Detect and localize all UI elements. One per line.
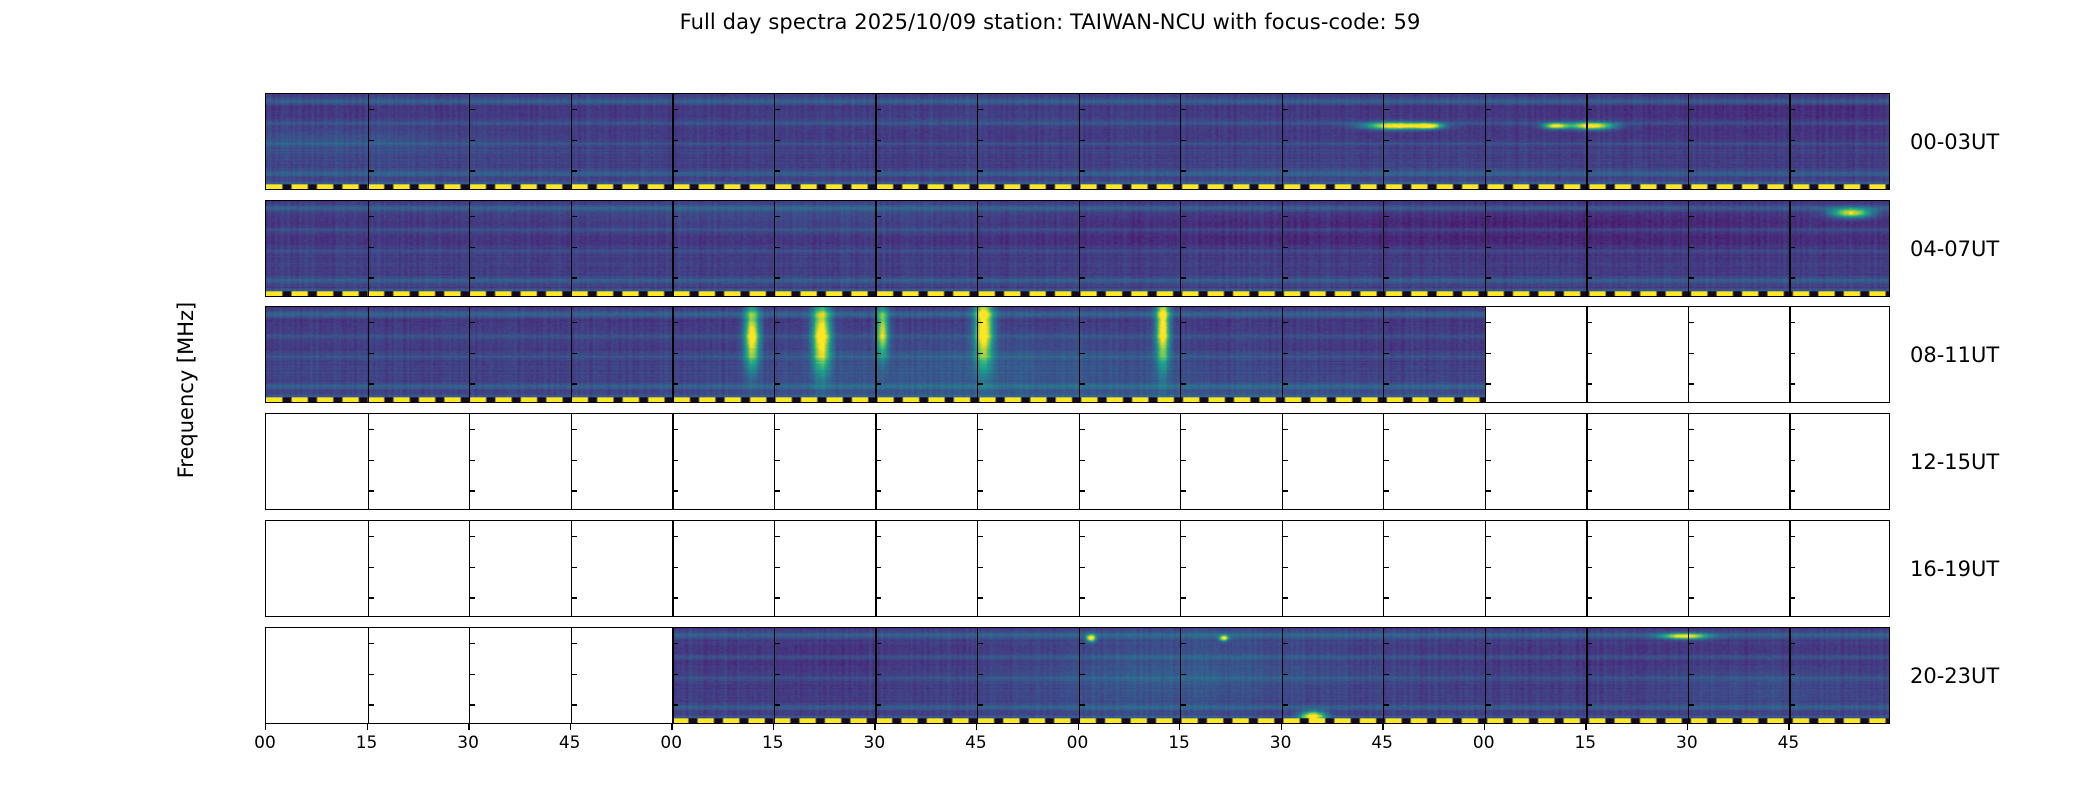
y-tick-mark-inner bbox=[1282, 322, 1288, 323]
y-tick-mark bbox=[265, 322, 266, 323]
y-tick-mark-inner bbox=[571, 140, 577, 141]
y-tick-mark-inner bbox=[1180, 429, 1186, 430]
y-tick-mark-inner bbox=[571, 322, 577, 323]
y-tick-mark-inner bbox=[469, 109, 475, 110]
y-tick-mark-inner bbox=[368, 597, 374, 598]
y-tick-mark-inner bbox=[368, 490, 374, 491]
y-tick-mark-inner bbox=[1688, 216, 1694, 217]
y-tick-mark-inner bbox=[1282, 597, 1288, 598]
x-tick-mark bbox=[367, 724, 368, 730]
y-tick-mark-inner bbox=[1383, 460, 1389, 461]
y-tick-mark-inner bbox=[1789, 322, 1795, 323]
y-tick-mark-inner bbox=[672, 322, 678, 323]
y-tick-mark-inner bbox=[1789, 567, 1795, 568]
y-tick-mark-inner bbox=[774, 674, 780, 675]
y-tick-mark-inner bbox=[672, 704, 678, 705]
y-tick-mark bbox=[265, 704, 266, 705]
x-tick-mark bbox=[570, 724, 571, 730]
x-tick-mark bbox=[671, 724, 672, 730]
y-tick-mark-inner bbox=[1282, 277, 1288, 278]
y-tick-mark-inner bbox=[1079, 597, 1085, 598]
y-tick-mark-inner bbox=[875, 216, 881, 217]
y-tick-mark-inner bbox=[1383, 277, 1389, 278]
y-tick-mark bbox=[265, 140, 266, 141]
y-tick-mark-inner bbox=[1586, 109, 1592, 110]
y-tick-mark-inner bbox=[571, 490, 577, 491]
y-tick-mark-inner bbox=[368, 353, 374, 354]
x-tick-label: 45 bbox=[965, 733, 987, 753]
y-tick-mark-inner bbox=[774, 704, 780, 705]
y-tick-mark-inner bbox=[875, 597, 881, 598]
y-tick-mark-inner bbox=[1485, 109, 1491, 110]
y-tick-mark-inner bbox=[1282, 247, 1288, 248]
y-tick-mark-inner bbox=[672, 597, 678, 598]
y-tick-mark-inner bbox=[977, 460, 983, 461]
y-tick-mark-inner bbox=[1079, 170, 1085, 171]
y-tick-mark-inner bbox=[875, 247, 881, 248]
y-tick-mark-inner bbox=[1079, 383, 1085, 384]
y-tick-mark-inner bbox=[1079, 704, 1085, 705]
y-tick-mark-inner bbox=[977, 277, 983, 278]
y-tick-mark-inner bbox=[1789, 490, 1795, 491]
x-tick-mark bbox=[773, 724, 774, 730]
y-tick-mark-inner bbox=[977, 597, 983, 598]
y-tick-mark-inner bbox=[1485, 567, 1491, 568]
y-tick-mark-inner bbox=[1485, 277, 1491, 278]
y-tick-mark-inner bbox=[1180, 247, 1186, 248]
y-tick-mark-inner bbox=[875, 429, 881, 430]
y-tick-mark-inner bbox=[875, 353, 881, 354]
y-tick-mark-inner bbox=[1383, 216, 1389, 217]
x-tick-mark bbox=[1585, 724, 1586, 730]
y-tick-mark-inner bbox=[1789, 383, 1795, 384]
spectrogram-row-12-15ut[interactable]: 750500250 bbox=[265, 413, 1890, 510]
y-tick-mark bbox=[265, 567, 266, 568]
y-tick-mark-inner bbox=[977, 322, 983, 323]
y-tick-mark-inner bbox=[1079, 109, 1085, 110]
y-tick-mark-inner bbox=[1180, 353, 1186, 354]
y-tick-mark-inner bbox=[1586, 460, 1592, 461]
y-tick-mark-inner bbox=[977, 674, 983, 675]
y-tick-mark-inner bbox=[1586, 277, 1592, 278]
y-tick-mark-inner bbox=[875, 490, 881, 491]
y-tick-mark-inner bbox=[1383, 140, 1389, 141]
y-tick-mark-inner bbox=[1180, 536, 1186, 537]
y-tick-mark bbox=[265, 170, 266, 171]
y-tick-mark-inner bbox=[1282, 429, 1288, 430]
y-tick-mark-inner bbox=[469, 322, 475, 323]
y-tick-mark-inner bbox=[368, 322, 374, 323]
row-plot-frame: 750500250 bbox=[265, 200, 1890, 297]
y-tick-mark-inner bbox=[977, 109, 983, 110]
x-tick-label: 15 bbox=[1574, 733, 1596, 753]
y-tick-mark-inner bbox=[1688, 322, 1694, 323]
y-tick-mark-inner bbox=[1688, 247, 1694, 248]
row-time-label-08-11ut: 08-11UT bbox=[1910, 343, 1999, 367]
y-tick-mark-inner bbox=[368, 643, 374, 644]
y-tick-mark-inner bbox=[672, 216, 678, 217]
y-tick-mark-inner bbox=[1688, 704, 1694, 705]
y-tick-mark-inner bbox=[977, 216, 983, 217]
y-tick-mark-inner bbox=[469, 704, 475, 705]
y-tick-mark-inner bbox=[672, 170, 678, 171]
y-tick-mark-inner bbox=[1180, 216, 1186, 217]
y-tick-mark-inner bbox=[1282, 536, 1288, 537]
y-tick-mark bbox=[265, 460, 266, 461]
y-tick-mark-inner bbox=[1180, 490, 1186, 491]
y-tick-mark-inner bbox=[875, 383, 881, 384]
y-tick-mark-inner bbox=[1789, 674, 1795, 675]
y-tick-mark bbox=[265, 277, 266, 278]
y-tick-mark-inner bbox=[368, 674, 374, 675]
y-tick-mark bbox=[265, 353, 266, 354]
x-tick-label: 45 bbox=[1778, 733, 1800, 753]
y-tick-mark-inner bbox=[1180, 597, 1186, 598]
y-tick-mark-inner bbox=[1383, 322, 1389, 323]
y-tick-mark-inner bbox=[774, 353, 780, 354]
y-tick-mark-inner bbox=[1688, 277, 1694, 278]
x-tick-label: 30 bbox=[457, 733, 479, 753]
y-tick-mark-inner bbox=[368, 460, 374, 461]
y-tick-mark-inner bbox=[875, 277, 881, 278]
row-plot-frame: 750500250 bbox=[265, 306, 1890, 403]
y-tick-mark-inner bbox=[672, 536, 678, 537]
y-tick-mark-inner bbox=[571, 460, 577, 461]
y-tick-mark-inner bbox=[875, 460, 881, 461]
y-tick-mark-inner bbox=[1789, 704, 1795, 705]
x-tick-label: 15 bbox=[1168, 733, 1190, 753]
y-tick-mark-inner bbox=[774, 429, 780, 430]
y-tick-mark-inner bbox=[368, 567, 374, 568]
y-tick-mark-inner bbox=[1485, 643, 1491, 644]
y-tick-mark-inner bbox=[1586, 322, 1592, 323]
y-tick-mark-inner bbox=[1485, 322, 1491, 323]
y-tick-mark-inner bbox=[1485, 536, 1491, 537]
y-tick-mark bbox=[265, 216, 266, 217]
y-tick-mark-inner bbox=[469, 567, 475, 568]
y-tick-mark-inner bbox=[1079, 490, 1085, 491]
x-tick-mark bbox=[1382, 724, 1383, 730]
y-tick-mark-inner bbox=[1079, 429, 1085, 430]
y-tick-mark-inner bbox=[368, 704, 374, 705]
spectrogram-row-04-07ut[interactable]: 750500250 bbox=[265, 200, 1890, 297]
y-tick-mark-inner bbox=[469, 490, 475, 491]
y-tick-mark-inner bbox=[571, 536, 577, 537]
y-tick-mark-inner bbox=[1485, 704, 1491, 705]
y-tick-mark-inner bbox=[1079, 247, 1085, 248]
y-tick-mark-inner bbox=[571, 567, 577, 568]
y-tick-mark-inner bbox=[1688, 383, 1694, 384]
y-tick-mark-inner bbox=[875, 704, 881, 705]
y-tick-mark-inner bbox=[1282, 460, 1288, 461]
y-tick-mark-inner bbox=[1688, 674, 1694, 675]
y-tick-mark-inner bbox=[1180, 567, 1186, 568]
y-tick-mark-inner bbox=[1282, 216, 1288, 217]
y-tick-mark-inner bbox=[1586, 383, 1592, 384]
y-tick-mark-inner bbox=[571, 383, 577, 384]
y-tick-mark-inner bbox=[1586, 140, 1592, 141]
y-tick-mark-inner bbox=[1383, 536, 1389, 537]
y-tick-mark-inner bbox=[875, 567, 881, 568]
y-tick-mark-inner bbox=[469, 247, 475, 248]
y-tick-mark-inner bbox=[1282, 674, 1288, 675]
y-tick-mark-inner bbox=[1688, 170, 1694, 171]
y-tick-mark-inner bbox=[1180, 704, 1186, 705]
y-tick-mark-inner bbox=[1282, 383, 1288, 384]
row-plot-frame: 750500250 bbox=[265, 93, 1890, 190]
y-tick-mark-inner bbox=[1688, 460, 1694, 461]
y-tick-mark-inner bbox=[1180, 109, 1186, 110]
y-tick-mark-inner bbox=[1485, 170, 1491, 171]
y-tick-mark-inner bbox=[1383, 704, 1389, 705]
y-tick-mark bbox=[265, 247, 266, 248]
x-tick-label: 30 bbox=[1676, 733, 1698, 753]
y-tick-mark-inner bbox=[1282, 170, 1288, 171]
y-tick-mark-inner bbox=[1586, 490, 1592, 491]
y-tick-mark-inner bbox=[1079, 567, 1085, 568]
y-tick-mark-inner bbox=[571, 429, 577, 430]
y-tick-mark-inner bbox=[1180, 277, 1186, 278]
y-tick-mark-inner bbox=[1180, 643, 1186, 644]
y-tick-mark-inner bbox=[672, 277, 678, 278]
x-tick-label: 00 bbox=[660, 733, 682, 753]
y-tick-mark bbox=[265, 383, 266, 384]
x-tick-mark bbox=[1687, 724, 1688, 730]
spectrogram-row-00-03ut[interactable]: 750500250 bbox=[265, 93, 1890, 190]
y-tick-mark-inner bbox=[1282, 109, 1288, 110]
y-tick-mark-inner bbox=[1688, 490, 1694, 491]
y-tick-mark-inner bbox=[469, 170, 475, 171]
y-tick-mark-inner bbox=[368, 536, 374, 537]
x-tick-mark bbox=[1078, 724, 1079, 730]
y-tick-mark-inner bbox=[571, 277, 577, 278]
y-tick-mark-inner bbox=[1383, 567, 1389, 568]
x-tick-label: 30 bbox=[864, 733, 886, 753]
y-tick-mark-inner bbox=[1688, 429, 1694, 430]
y-tick-mark-inner bbox=[368, 170, 374, 171]
y-tick-mark-inner bbox=[875, 643, 881, 644]
y-tick-mark-inner bbox=[1079, 216, 1085, 217]
y-tick-mark-inner bbox=[571, 643, 577, 644]
x-tick-mark bbox=[1179, 724, 1180, 730]
x-tick-label: 15 bbox=[356, 733, 378, 753]
y-tick-mark bbox=[265, 536, 266, 537]
y-tick-mark-inner bbox=[1383, 429, 1389, 430]
row-plot-frame: 750500250 bbox=[265, 627, 1890, 724]
y-tick-mark-inner bbox=[672, 353, 678, 354]
y-tick-mark-inner bbox=[774, 322, 780, 323]
y-tick-mark-inner bbox=[1180, 140, 1186, 141]
y-tick-mark-inner bbox=[672, 109, 678, 110]
y-tick-mark-inner bbox=[469, 277, 475, 278]
x-tick-label: 00 bbox=[1067, 733, 1089, 753]
y-tick-mark-inner bbox=[1485, 247, 1491, 248]
y-tick-mark-inner bbox=[1485, 216, 1491, 217]
y-tick-mark-inner bbox=[774, 383, 780, 384]
spectrogram-row-16-19ut[interactable]: 750500250 bbox=[265, 520, 1890, 617]
y-tick-mark-inner bbox=[571, 704, 577, 705]
x-tick-label: 15 bbox=[762, 733, 784, 753]
y-tick-mark-inner bbox=[774, 140, 780, 141]
y-tick-mark-inner bbox=[1789, 277, 1795, 278]
y-tick-mark-inner bbox=[1789, 216, 1795, 217]
y-tick-mark-inner bbox=[571, 353, 577, 354]
y-tick-mark bbox=[265, 597, 266, 598]
y-tick-mark-inner bbox=[1586, 247, 1592, 248]
y-tick-mark-inner bbox=[1079, 536, 1085, 537]
x-tick-mark bbox=[468, 724, 469, 730]
y-tick-mark-inner bbox=[1789, 170, 1795, 171]
y-tick-mark-inner bbox=[368, 109, 374, 110]
y-tick-mark-inner bbox=[875, 170, 881, 171]
y-tick-mark-inner bbox=[875, 674, 881, 675]
y-tick-mark-inner bbox=[1079, 460, 1085, 461]
y-tick-mark-inner bbox=[875, 536, 881, 537]
y-tick-mark-inner bbox=[774, 536, 780, 537]
y-tick-mark-inner bbox=[1789, 140, 1795, 141]
y-tick-mark-inner bbox=[1079, 643, 1085, 644]
y-tick-mark-inner bbox=[571, 247, 577, 248]
y-tick-mark-inner bbox=[1688, 567, 1694, 568]
y-tick-mark-inner bbox=[977, 170, 983, 171]
y-tick-mark-inner bbox=[672, 643, 678, 644]
y-tick-mark-inner bbox=[977, 643, 983, 644]
y-tick-mark-inner bbox=[672, 383, 678, 384]
x-tick-label: 00 bbox=[254, 733, 276, 753]
y-tick-mark-inner bbox=[368, 216, 374, 217]
y-tick-mark-inner bbox=[1485, 383, 1491, 384]
x-tick-mark bbox=[1281, 724, 1282, 730]
y-tick-mark-inner bbox=[1180, 322, 1186, 323]
y-tick-mark-inner bbox=[1789, 597, 1795, 598]
x-tick-mark bbox=[265, 724, 266, 730]
y-tick-mark-inner bbox=[875, 109, 881, 110]
x-tick-mark bbox=[976, 724, 977, 730]
y-tick-mark-inner bbox=[774, 460, 780, 461]
y-tick-mark-inner bbox=[1383, 247, 1389, 248]
y-tick-mark-inner bbox=[977, 140, 983, 141]
y-tick-mark-inner bbox=[1586, 567, 1592, 568]
y-tick-mark-inner bbox=[1282, 567, 1288, 568]
figure-title: Full day spectra 2025/10/09 station: TAI… bbox=[0, 10, 2100, 34]
y-tick-mark bbox=[265, 429, 266, 430]
y-tick-mark-inner bbox=[1586, 536, 1592, 537]
y-tick-mark-inner bbox=[1586, 597, 1592, 598]
x-tick-label: 45 bbox=[1371, 733, 1393, 753]
y-tick-mark-inner bbox=[672, 567, 678, 568]
y-tick-mark-inner bbox=[1485, 353, 1491, 354]
y-tick-mark-inner bbox=[774, 216, 780, 217]
y-tick-mark-inner bbox=[469, 429, 475, 430]
x-tick-mark bbox=[1788, 724, 1789, 730]
y-tick-mark-inner bbox=[774, 490, 780, 491]
x-tick-mark bbox=[1484, 724, 1485, 730]
row-plot-frame: 750500250 bbox=[265, 413, 1890, 510]
spectrogram-row-08-11ut[interactable]: 750500250 bbox=[265, 306, 1890, 403]
spectrogram-row-20-23ut[interactable]: 750500250 bbox=[265, 627, 1890, 724]
y-tick-mark-inner bbox=[1688, 597, 1694, 598]
y-tick-mark-inner bbox=[368, 247, 374, 248]
y-tick-mark-inner bbox=[672, 140, 678, 141]
y-tick-mark-inner bbox=[1688, 353, 1694, 354]
y-tick-mark-inner bbox=[1485, 674, 1491, 675]
y-tick-mark-inner bbox=[1383, 170, 1389, 171]
y-tick-mark-inner bbox=[875, 140, 881, 141]
y-tick-mark-inner bbox=[1485, 429, 1491, 430]
y-tick-mark-inner bbox=[1282, 140, 1288, 141]
y-tick-mark-inner bbox=[1180, 383, 1186, 384]
y-tick-mark-inner bbox=[1586, 643, 1592, 644]
x-tick-mark bbox=[874, 724, 875, 730]
y-tick-mark-inner bbox=[469, 383, 475, 384]
y-tick-mark-inner bbox=[1586, 429, 1592, 430]
y-tick-mark-inner bbox=[774, 247, 780, 248]
y-tick-mark-inner bbox=[1789, 109, 1795, 110]
x-tick-label: 00 bbox=[1473, 733, 1495, 753]
y-tick-mark-inner bbox=[1180, 674, 1186, 675]
y-tick-mark-inner bbox=[1383, 109, 1389, 110]
y-tick-mark-inner bbox=[774, 109, 780, 110]
y-tick-mark-inner bbox=[571, 674, 577, 675]
y-tick-mark-inner bbox=[1586, 353, 1592, 354]
y-tick-mark-inner bbox=[469, 353, 475, 354]
y-tick-mark-inner bbox=[1282, 704, 1288, 705]
y-tick-mark-inner bbox=[977, 490, 983, 491]
y-tick-mark-inner bbox=[1485, 460, 1491, 461]
y-tick-mark-inner bbox=[1586, 704, 1592, 705]
y-tick-mark-inner bbox=[368, 383, 374, 384]
y-tick-mark-inner bbox=[875, 322, 881, 323]
y-tick-mark-inner bbox=[774, 170, 780, 171]
y-tick-mark-inner bbox=[774, 643, 780, 644]
y-tick-mark-inner bbox=[1079, 322, 1085, 323]
y-tick-mark-inner bbox=[469, 460, 475, 461]
y-tick-mark-inner bbox=[774, 567, 780, 568]
y-tick-mark-inner bbox=[1688, 536, 1694, 537]
y-tick-mark bbox=[265, 674, 266, 675]
y-tick-mark-inner bbox=[1383, 674, 1389, 675]
y-tick-mark-inner bbox=[1079, 277, 1085, 278]
y-tick-mark-inner bbox=[1485, 140, 1491, 141]
y-tick-mark-inner bbox=[1180, 460, 1186, 461]
x-tick-label: 45 bbox=[559, 733, 581, 753]
y-tick-mark-inner bbox=[977, 704, 983, 705]
y-tick-mark-inner bbox=[1079, 353, 1085, 354]
y-tick-mark-inner bbox=[977, 383, 983, 384]
y-tick-mark-inner bbox=[368, 277, 374, 278]
y-tick-mark-inner bbox=[672, 429, 678, 430]
x-tick-label: 30 bbox=[1270, 733, 1292, 753]
y-tick-mark-inner bbox=[1586, 170, 1592, 171]
spectrogram-figure: Full day spectra 2025/10/09 station: TAI… bbox=[0, 0, 2100, 800]
y-tick-mark-inner bbox=[977, 567, 983, 568]
y-tick-mark-inner bbox=[1688, 140, 1694, 141]
y-tick-mark-inner bbox=[368, 429, 374, 430]
y-tick-mark-inner bbox=[469, 536, 475, 537]
y-tick-mark-inner bbox=[1180, 170, 1186, 171]
y-tick-mark-inner bbox=[977, 429, 983, 430]
row-time-label-00-03ut: 00-03UT bbox=[1910, 130, 1999, 154]
y-tick-mark-inner bbox=[1586, 674, 1592, 675]
y-tick-mark bbox=[265, 490, 266, 491]
row-plot-frame: 750500250 bbox=[265, 520, 1890, 617]
y-tick-mark-inner bbox=[469, 643, 475, 644]
row-time-label-16-19ut: 16-19UT bbox=[1910, 557, 1999, 581]
y-tick-mark-inner bbox=[1282, 353, 1288, 354]
row-time-label-04-07ut: 04-07UT bbox=[1910, 237, 1999, 261]
y-tick-mark-inner bbox=[1383, 643, 1389, 644]
y-tick-mark-inner bbox=[1789, 247, 1795, 248]
